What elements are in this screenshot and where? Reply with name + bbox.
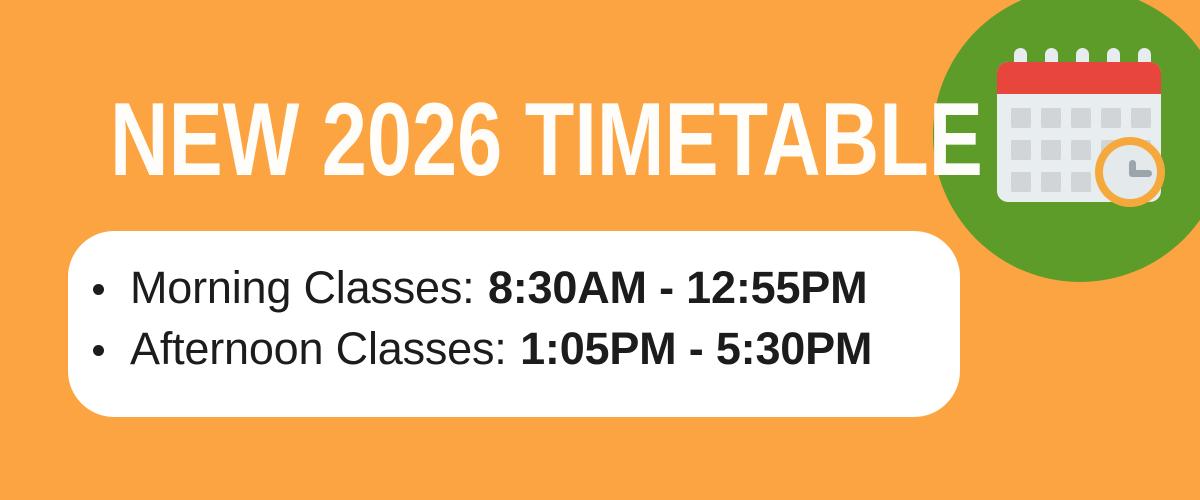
- schedule-label-afternoon: Afternoon Classes:: [130, 318, 507, 379]
- schedule-time-afternoon: 1:05PM - 5:30PM: [520, 318, 872, 379]
- calendar-date-cell: [1011, 108, 1031, 128]
- calendar-date-cell: [1011, 140, 1031, 160]
- calendar-date-cell: [1071, 172, 1091, 192]
- clock-icon: [1095, 137, 1165, 207]
- calendar-date-cell: [1041, 172, 1061, 192]
- calendar-header-bar: [997, 62, 1161, 94]
- list-item: Afternoon Classes: 1:05PM - 5:30PM: [68, 318, 960, 379]
- calendar-date-cell: [1101, 108, 1121, 128]
- timetable-banner: NEW 2026 TIMETABLE Morning Classes: 8:30…: [0, 0, 1200, 500]
- calendar-date-cell: [1131, 108, 1151, 128]
- schedule-card: Morning Classes: 8:30AM - 12:55PM Aftern…: [68, 231, 960, 417]
- clock-face: [1103, 145, 1157, 199]
- clock-hand-minute: [1129, 170, 1152, 177]
- schedule-list: Morning Classes: 8:30AM - 12:55PM Aftern…: [68, 257, 960, 379]
- calendar-date-cell: [1071, 140, 1091, 160]
- bullet-point-icon: [93, 345, 104, 356]
- list-item: Morning Classes: 8:30AM - 12:55PM: [68, 257, 960, 318]
- calendar-date-cell: [1011, 172, 1031, 192]
- page-title: NEW 2026 TIMETABLE: [110, 88, 983, 192]
- calendar-date-cell: [1041, 140, 1061, 160]
- calendar-clock-icon: [993, 48, 1165, 208]
- schedule-label-morning: Morning Classes:: [130, 257, 474, 318]
- schedule-time-morning: 8:30AM - 12:55PM: [488, 257, 867, 318]
- bullet-point-icon: [93, 284, 104, 295]
- calendar-date-cell: [1041, 108, 1061, 128]
- calendar-date-cell: [1071, 108, 1091, 128]
